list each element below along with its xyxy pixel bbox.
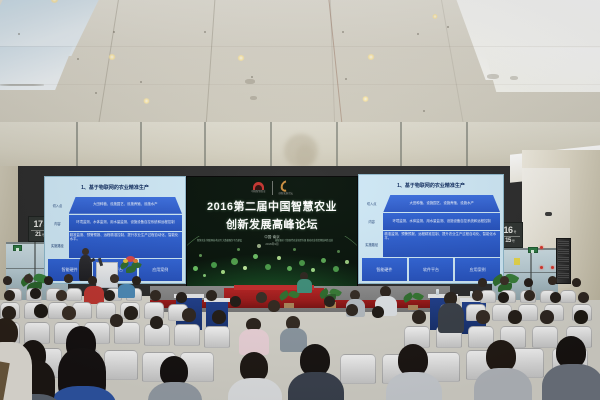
hall-sign-left-secondary: 21 — [35, 232, 41, 238]
flower-arrangement-left — [118, 254, 144, 276]
ceiling-fixture-dot — [204, 31, 206, 33]
exit-sign-right — [528, 247, 538, 253]
slide-row-content: 大田种植、设施园艺、设施养殖、设施水产 — [383, 195, 500, 212]
slide-row: 内容 环境监测、水体监测、用水量监测、设施设备自控系统和远程控制 — [362, 213, 500, 230]
ceiling-fixture-dot — [113, 31, 115, 33]
wall-mullion — [400, 122, 402, 168]
slide-row-label: 实施路径 — [362, 231, 381, 257]
slide-bottom-box: 应用案例 — [139, 259, 182, 281]
ceiling-vent — [510, 76, 518, 80]
wall-mullion — [270, 122, 272, 168]
skylight-right-lower — [484, 48, 600, 92]
wall-mullion — [140, 122, 142, 168]
water-bottle — [436, 289, 439, 295]
logo-divider — [272, 181, 273, 195]
ceiling-vent — [250, 96, 257, 100]
wall-mullion — [204, 122, 206, 168]
wall-stain — [296, 144, 314, 168]
ceiling-vent — [487, 74, 499, 79]
wall-mullion — [336, 122, 338, 168]
led-title-line2: 创新发展高峰论坛 — [226, 216, 318, 232]
ceiling — [0, 0, 600, 125]
ceiling-seam — [328, 0, 342, 125]
ceiling-downlight — [237, 55, 245, 61]
slide-row-content: 环境监测、水体监测、用水量监测、设施设备自控系统和远程控制 — [69, 215, 182, 232]
slide-title-left: 1、基于物联网的农业精准生产 — [48, 184, 182, 191]
led-logo-row: 中国智慧农业 创新发展论坛 — [251, 180, 293, 195]
slide-row-label: 切入点 — [362, 195, 381, 212]
led-annotation-left: 智慧农业 物联网技术应用 大数据服务平台建设 — [197, 238, 242, 242]
slide-bottom-box: 智能硬件 — [362, 258, 407, 281]
chair — [204, 326, 230, 348]
ceiling-seam — [441, 0, 464, 125]
security-camera — [545, 212, 552, 216]
wall-mullion — [466, 122, 468, 168]
ceiling-fixture-dot — [447, 26, 449, 28]
ceiling-fixture-dot — [251, 76, 253, 78]
slide-row-content: 大田种植、设施园艺、设施养殖、设施水产 — [69, 197, 182, 214]
ceiling-seam — [206, 0, 216, 125]
chair — [532, 326, 558, 348]
slide-row-label: 内容 — [48, 215, 67, 232]
led-bokeh-graphic: 智慧农业 物联网技术应用 大数据服务平台建设 创新驱动 引领现代农业转型升级 推… — [187, 236, 357, 287]
bridge-arch-icon — [253, 182, 264, 190]
slide-bottom-row: 智能硬件 软件平台 应用案例 — [362, 258, 500, 281]
ceiling-downlight — [367, 54, 375, 60]
chair — [66, 288, 82, 301]
led-annotation-right: 创新驱动 引领现代农业转型升级 推动农业供给侧结构性改革 — [275, 238, 333, 242]
hall-sign-right-primary: 16 — [503, 226, 512, 235]
bokeh-dot — [203, 274, 206, 277]
chair — [174, 324, 200, 346]
slide-row-label: 实施路径 — [48, 232, 67, 257]
door-notice — [514, 258, 520, 265]
slide-row-label: 切入点 — [48, 197, 67, 214]
slide-title-right: 1、基于物联网的农业精准生产 — [362, 182, 500, 189]
exit-sign-left — [13, 245, 22, 251]
line-array-speaker-right — [556, 238, 571, 284]
ceiling-rail — [0, 84, 44, 86]
chair — [104, 350, 138, 380]
ceiling-fixture-dot — [342, 31, 344, 33]
hall-sign-right-secondary: 15 — [505, 238, 511, 244]
ceiling-seam — [98, 0, 119, 125]
led-title-line1: 2016第二届中国智慧农业 — [207, 198, 337, 214]
organizer-right-caption: 创新发展论坛 — [279, 193, 293, 195]
hall-sign-left-primary: 17 — [33, 220, 42, 229]
ceiling-fixture-dot — [345, 78, 347, 80]
slide-row: 切入点 大田种植、设施园艺、设施养殖、设施水产 — [48, 197, 182, 214]
ceiling-fixture-dot — [417, 33, 419, 35]
ceiling-downlight — [143, 98, 150, 104]
chair — [560, 290, 576, 303]
conference-hall-photo: 17 号 21 号 16 号 15 号 — [0, 0, 600, 400]
slide-row: 内容 环境监测、水体监测、用水量监测、设施设备自控系统和远程控制 — [48, 215, 182, 232]
slide-row: 实施路径 精准监测、预警预报、远程精准控制、提升农业生产过程自动化、智能化水平。 — [362, 231, 500, 257]
indicator-led — [540, 266, 543, 269]
hall-sign-right-secondary-unit: 号 — [512, 240, 515, 243]
slide-row: 切入点 大田种植、设施园艺、设施养殖、设施水产 — [362, 195, 500, 212]
slide-row-content: 环境监测、水体监测、用水量监测、设施设备自控系统和远程控制 — [383, 213, 500, 230]
ceiling-fixture-dot — [18, 33, 20, 35]
ceiling-vent — [245, 79, 255, 84]
ceiling-seam-h — [0, 84, 600, 85]
organizer-left-caption: 中国智慧农业 — [251, 191, 265, 193]
slide-bottom-box: 软件平台 — [409, 258, 454, 281]
ceiling-downlight — [362, 96, 369, 102]
wall-mullion — [76, 122, 78, 168]
potted-plant-right — [402, 292, 424, 310]
slide-row-content: 精准监测、预警预报、远程精准控制、提升农业生产过程自动化、智能化水平。 — [383, 231, 500, 257]
ceiling-fixture-dot — [77, 58, 79, 60]
chair — [340, 354, 376, 384]
ceiling-fixture-dot — [95, 92, 97, 94]
ceiling-downlight — [108, 54, 116, 60]
ceiling-fixture-dot — [423, 110, 425, 112]
slide-row: 实施路径 精准监测、预警预报、远程精准控制、提升农业生产过程自动化、智能化水平。 — [48, 232, 182, 257]
hall-sign-right-primary-unit: 号 — [514, 231, 517, 234]
slide-row-label: 内容 — [362, 213, 381, 230]
organizer-logo-left: 中国智慧农业 — [251, 182, 265, 193]
presenter-head — [82, 248, 89, 255]
indicator-led — [540, 246, 543, 249]
ceiling-seam-h — [0, 46, 600, 47]
ceiling-downlight — [432, 14, 438, 19]
indicator-led — [551, 266, 554, 269]
main-led-screen: 中国智慧农业 创新发展论坛 2016第二届中国智慧农业 创新发展高峰论坛 中国·… — [186, 176, 358, 288]
potted-plant-left — [278, 290, 300, 308]
ceiling-fixture-dot — [140, 81, 142, 83]
right-projection-screen: 1、基于物联网的农业精准生产 切入点 大田种植、设施园艺、设施养殖、设施水产 内… — [358, 174, 504, 284]
organizer-logo-right: 创新发展论坛 — [279, 180, 293, 195]
